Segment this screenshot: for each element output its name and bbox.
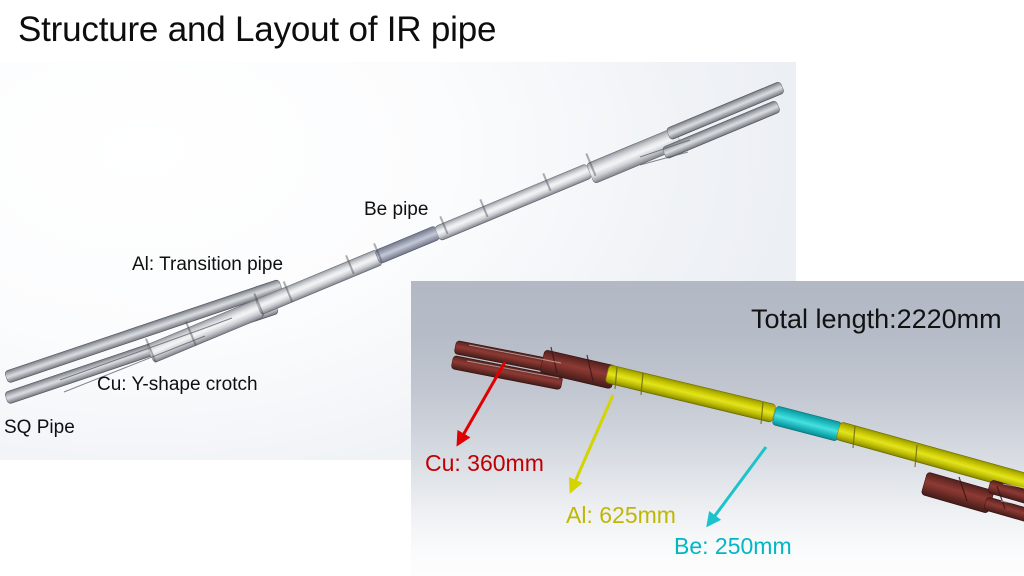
al-transition-pipe-upper xyxy=(434,163,592,241)
label-al-transition-pipe: Al: Transition pipe xyxy=(132,254,283,276)
al-callout-arrow xyxy=(571,395,613,491)
inset-be-segment xyxy=(771,405,842,441)
inset-al-left-run xyxy=(605,364,777,423)
callout-label-be: Be: 250mm xyxy=(674,533,792,560)
be-pipe-segment xyxy=(374,225,441,264)
be-callout-arrow xyxy=(708,447,766,525)
total-length-label: Total length:2220mm xyxy=(751,304,1002,335)
label-sq-pipe: SQ Pipe xyxy=(4,417,75,439)
slide-canvas: Structure and Layout of IR pipe xyxy=(0,0,1024,576)
callout-label-al: Al: 625mm xyxy=(566,502,676,529)
label-cu-y-shape-crotch: Cu: Y-shape crotch xyxy=(97,374,258,396)
sq-pipe-upper-prong xyxy=(4,279,283,384)
inset-cad-figure: Total length:2220mm xyxy=(411,281,1024,576)
label-be-pipe: Be pipe xyxy=(364,199,428,221)
page-title: Structure and Layout of IR pipe xyxy=(18,8,496,52)
callout-label-cu: Cu: 360mm xyxy=(425,450,544,477)
